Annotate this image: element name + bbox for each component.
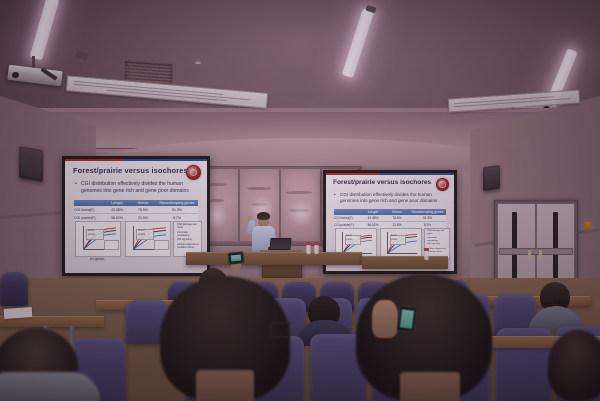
whiteboard-marking [247, 187, 271, 190]
slide-accent-bar-right [326, 173, 454, 175]
water-bottle-front-2 [314, 244, 319, 254]
cell-forest-label-r: CGI forest(F) [334, 215, 361, 222]
slide-chart-2: forest prairie [125, 221, 171, 257]
enrichment-item-2-right: p53 signaling [427, 243, 447, 246]
door-handle-right[interactable] [539, 250, 542, 260]
cell-forest-genes: 78.5% [130, 206, 156, 214]
cell-forest-hk-r: 91.3% [409, 215, 446, 222]
fire-alarm-icon [585, 222, 591, 231]
slide-title: Forest/prairie versus isochores [73, 166, 188, 175]
wall-speaker-left [19, 146, 43, 182]
whiteboard-panel-3 [281, 169, 320, 241]
enrichment-item-0: DNA damage and repair [177, 223, 199, 229]
slide-bullet-main-right: CGI distribution effectively divides the… [340, 192, 446, 204]
cell-forest-housekeeping: 91.3% [156, 206, 198, 214]
foreground-neck-center-right [400, 372, 460, 401]
enrichment-item-3: cellular response to oxidative stress [177, 243, 199, 249]
seat-far-1[interactable] [0, 272, 28, 306]
enrichment-item-1: chromatin remodeling [177, 231, 199, 237]
table-row: CGI forest(F) 43.48% 78.5% 91.3% [334, 215, 446, 222]
water-bottle-front-3 [424, 250, 429, 260]
water-bottle-front-1 [306, 244, 311, 254]
chart1-legend-forest: forest [88, 229, 95, 232]
slide-bullet-main: CGI distribution effectively divides the… [81, 181, 197, 195]
cell-forest-genes-r: 78.5% [385, 215, 409, 222]
lecture-hall-photo: Forest/prairie versus isochores CGI dist… [0, 0, 600, 401]
chart1r-legend-forest: forest [346, 235, 352, 237]
phone-1[interactable] [227, 251, 244, 265]
cell-forest-length: 43.48% [104, 206, 130, 214]
door-handle-left[interactable] [528, 250, 531, 260]
paper-on-desk [4, 307, 33, 319]
foreground-shoulders-far-left [0, 372, 100, 401]
bottle-cap-front-1 [306, 242, 311, 245]
slide-accent-bar [65, 159, 207, 161]
slide-data-table: Length Genes Housekeeping genes CGI fore… [74, 200, 198, 222]
chart2-legend-prairie: prairie [138, 233, 145, 236]
phone-2-screen [400, 309, 414, 328]
cell-forest-label: CGI forest(F) [74, 206, 104, 214]
sprinkler-head [196, 58, 200, 64]
whiteboard-marking [208, 199, 224, 202]
bottle-cap-front-3 [424, 248, 429, 251]
glasses-audience-3 [541, 300, 553, 307]
chart2-legend-forest: forest [138, 229, 145, 232]
wall-speaker-right [483, 165, 500, 191]
presenter-hair [257, 212, 270, 220]
chart2r-legend-prairie: prairie [391, 239, 397, 241]
bottle-cap-front-2 [314, 242, 319, 245]
phone-1-screen [231, 254, 242, 261]
enrichment-item-0-right: DNA damage and repair [427, 230, 447, 236]
university-seal-logo-right [436, 178, 449, 191]
enrichment-item-2: p53 signaling [177, 238, 199, 241]
table-row: CGI forest(F) 43.48% 78.5% 91.3% [74, 206, 198, 214]
slide-chart-1: forest prairie [75, 221, 121, 257]
chart-caption: All genes [75, 257, 119, 261]
front-desk-right [362, 256, 448, 269]
whiteboard-glare [287, 199, 315, 227]
presenter-laptop-screen [269, 238, 291, 250]
slide-title-right: Forest/prairie versus isochores [333, 179, 431, 186]
enrichment-item-1-right: chromatin remodeling [427, 237, 447, 243]
chart1r-legend-prairie: prairie [346, 239, 352, 241]
presenter-hand [247, 216, 252, 221]
foreground-hand-phone-2 [372, 300, 398, 338]
whiteboard-marking [286, 191, 312, 194]
phone-2[interactable] [396, 305, 417, 333]
chart1-annotation-box [104, 240, 119, 250]
chart2-annotation-box [154, 240, 169, 250]
door-push-bar[interactable] [499, 248, 573, 255]
foreground-neck-center-left [196, 370, 254, 401]
chart2r-legend-forest: forest [391, 235, 397, 237]
front-desk-row [186, 252, 362, 265]
chart1-legend-prairie: prairie [88, 233, 95, 236]
university-seal-logo [186, 165, 201, 180]
table-header-housekeeping-r: Housekeeping genes [409, 209, 446, 215]
glasses-foreground-left [270, 322, 290, 338]
enrichment-item-3-right: cellular response to oxidative stress [427, 248, 447, 254]
projector-left-lens [12, 72, 19, 78]
cell-forest-length-r: 43.48% [361, 215, 385, 222]
slide-data-table-right: Length Genes Housekeeping genes CGI fore… [334, 209, 446, 230]
foreground-head-far-right [548, 330, 600, 401]
